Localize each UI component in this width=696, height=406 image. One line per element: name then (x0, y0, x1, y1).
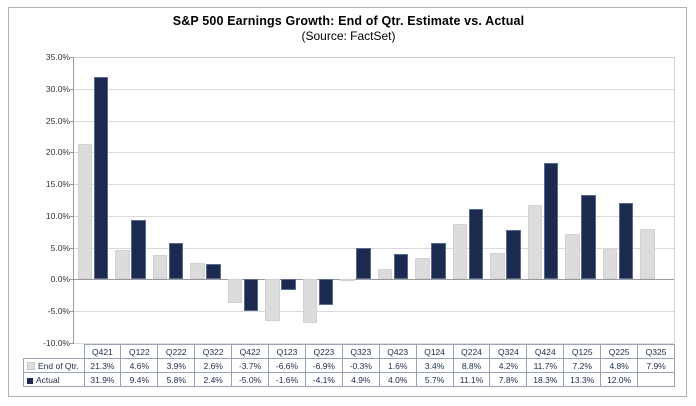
bar-actual-Q122 (131, 220, 146, 280)
table-category-header-Q222: Q222 (158, 345, 195, 359)
table-row-end-of-qtr: End of Qtr.21.3%4.6%3.9%2.6%-3.7%-6.6%-6… (24, 359, 675, 373)
bar-group (637, 57, 675, 343)
legend-label-actual: Actual (36, 375, 60, 385)
table-cell-end-of-qtr-Q125: 7.2% (564, 359, 601, 373)
table-category-header-Q325: Q325 (638, 345, 675, 359)
bars-layer (74, 57, 674, 343)
table-cell-actual-Q424: 18.3% (527, 373, 564, 387)
bar-group (487, 57, 525, 343)
bar-group (599, 57, 637, 343)
table-cell-actual-Q421: 31.9% (84, 373, 121, 387)
table-cell-actual-Q325 (638, 373, 675, 387)
table-cell-actual-Q122: 9.4% (121, 373, 158, 387)
table-category-header-Q125: Q125 (564, 345, 601, 359)
bar-end-of-qtr-Q423 (378, 269, 393, 279)
bar-group (112, 57, 150, 343)
bar-actual-Q422 (244, 279, 259, 311)
table-cell-actual-Q222: 5.8% (158, 373, 195, 387)
table-cell-actual-Q422: -5.0% (232, 373, 269, 387)
bar-actual-Q222 (169, 243, 184, 280)
bar-end-of-qtr-Q124 (415, 258, 430, 280)
bar-actual-Q322 (206, 264, 221, 279)
table-cell-actual-Q323: 4.9% (342, 373, 379, 387)
bar-end-of-qtr-Q424 (528, 205, 543, 279)
bar-actual-Q323 (356, 248, 371, 279)
legend-item-actual: Actual (24, 373, 85, 387)
table-category-header-Q124: Q124 (416, 345, 453, 359)
table-category-header-Q223: Q223 (305, 345, 342, 359)
bar-group (337, 57, 375, 343)
table-corner-cell (24, 345, 85, 359)
table-category-header-Q123: Q123 (269, 345, 306, 359)
bar-actual-Q125 (581, 195, 596, 280)
table-cell-actual-Q223: -4.1% (305, 373, 342, 387)
table-category-header-Q421: Q421 (84, 345, 121, 359)
y-axis-tick-label: 25.0% (46, 116, 70, 126)
table-cell-actual-Q322: 2.4% (195, 373, 232, 387)
table-cell-end-of-qtr-Q325: 7.9% (638, 359, 675, 373)
table-cell-end-of-qtr-Q224: 8.8% (453, 359, 490, 373)
bar-end-of-qtr-Q222 (153, 255, 168, 280)
bar-end-of-qtr-Q225 (603, 249, 618, 280)
y-axis-tick-label: 5.0% (51, 243, 70, 253)
table-category-header-Q324: Q324 (490, 345, 527, 359)
data-table: Q421Q122Q222Q322Q422Q123Q223Q323Q423Q124… (23, 344, 675, 387)
y-axis-tick-label: 15.0% (46, 179, 70, 189)
table-cell-actual-Q423: 4.0% (379, 373, 416, 387)
table-row-actual: Actual31.9%9.4%5.8%2.4%-5.0%-1.6%-4.1%4.… (24, 373, 675, 387)
legend-swatch-actual-icon (27, 378, 33, 384)
bar-group (299, 57, 337, 343)
bar-group (412, 57, 450, 343)
y-axis-tick-label: 20.0% (46, 147, 70, 157)
table-cell-actual-Q224: 11.1% (453, 373, 490, 387)
table-cell-actual-Q124: 5.7% (416, 373, 453, 387)
bar-group (262, 57, 300, 343)
bar-actual-Q421 (94, 77, 109, 280)
bar-actual-Q423 (394, 254, 409, 279)
table-cell-end-of-qtr-Q422: -3.7% (232, 359, 269, 373)
bar-actual-Q424 (544, 163, 559, 279)
chart-frame: S&P 500 Earnings Growth: End of Qtr. Est… (8, 7, 687, 397)
legend-label-end-of-qtr: End of Qtr. (38, 361, 79, 371)
table-category-header-Q423: Q423 (379, 345, 416, 359)
table-cell-end-of-qtr-Q222: 3.9% (158, 359, 195, 373)
bar-end-of-qtr-Q421 (78, 144, 93, 279)
bar-end-of-qtr-Q125 (565, 234, 580, 280)
title-block: S&P 500 Earnings Growth: End of Qtr. Est… (9, 14, 688, 44)
bar-actual-Q324 (506, 230, 521, 280)
table-category-header-Q224: Q224 (453, 345, 490, 359)
chart-title: S&P 500 Earnings Growth: End of Qtr. Est… (9, 14, 688, 29)
y-axis-tick-label: 0.0% (51, 274, 70, 284)
bar-group (449, 57, 487, 343)
plot-area: 35.0%30.0%25.0%20.0%15.0%10.0%5.0%0.0%-5… (73, 57, 675, 343)
table-cell-end-of-qtr-Q124: 3.4% (416, 359, 453, 373)
bar-group (524, 57, 562, 343)
table-cell-end-of-qtr-Q122: 4.6% (121, 359, 158, 373)
bar-end-of-qtr-Q322 (190, 263, 205, 280)
table-category-header-Q122: Q122 (121, 345, 158, 359)
bar-group (374, 57, 412, 343)
table-category-header-Q424: Q424 (527, 345, 564, 359)
table-category-header-Q225: Q225 (601, 345, 638, 359)
table-cell-end-of-qtr-Q421: 21.3% (84, 359, 121, 373)
bar-end-of-qtr-Q422 (228, 279, 243, 303)
legend-swatch-end-of-qtr-icon (27, 362, 35, 370)
bar-end-of-qtr-Q123 (265, 279, 280, 321)
table-category-header-Q323: Q323 (342, 345, 379, 359)
table-cell-actual-Q324: 7.8% (490, 373, 527, 387)
y-axis-tick-label: 30.0% (46, 84, 70, 94)
bar-group (224, 57, 262, 343)
bar-actual-Q124 (431, 243, 446, 279)
table-category-header-Q322: Q322 (195, 345, 232, 359)
bar-group (562, 57, 600, 343)
table-cell-end-of-qtr-Q424: 11.7% (527, 359, 564, 373)
table-cell-end-of-qtr-Q323: -0.3% (342, 359, 379, 373)
bar-group (74, 57, 112, 343)
bar-end-of-qtr-Q323 (340, 279, 355, 281)
bar-actual-Q224 (469, 209, 484, 280)
table-cell-end-of-qtr-Q223: -6.9% (305, 359, 342, 373)
table-cell-end-of-qtr-Q123: -6.6% (269, 359, 306, 373)
bar-end-of-qtr-Q122 (115, 250, 130, 279)
bar-actual-Q223 (319, 279, 334, 305)
table-header-row: Q421Q122Q222Q322Q422Q123Q223Q323Q423Q124… (24, 345, 675, 359)
bar-end-of-qtr-Q324 (490, 253, 505, 280)
bar-end-of-qtr-Q223 (303, 279, 318, 323)
bar-group (149, 57, 187, 343)
bar-end-of-qtr-Q325 (640, 229, 655, 279)
table-category-header-Q422: Q422 (232, 345, 269, 359)
table-cell-end-of-qtr-Q324: 4.2% (490, 359, 527, 373)
y-axis-tick-label: 35.0% (46, 52, 70, 62)
bar-actual-Q123 (281, 279, 296, 289)
y-axis-tick-label: 10.0% (46, 211, 70, 221)
table-cell-end-of-qtr-Q423: 1.6% (379, 359, 416, 373)
table-cell-end-of-qtr-Q322: 2.6% (195, 359, 232, 373)
table-cell-actual-Q123: -1.6% (269, 373, 306, 387)
table-cell-end-of-qtr-Q225: 4.8% (601, 359, 638, 373)
bar-end-of-qtr-Q224 (453, 224, 468, 280)
chart-subtitle: (Source: FactSet) (9, 29, 688, 44)
table-cell-actual-Q125: 13.3% (564, 373, 601, 387)
bar-group (187, 57, 225, 343)
y-axis-tick-label: -5.0% (48, 306, 70, 316)
legend-item-end-of-qtr: End of Qtr. (24, 359, 85, 373)
table-cell-actual-Q225: 12.0% (601, 373, 638, 387)
bar-actual-Q225 (619, 203, 634, 279)
